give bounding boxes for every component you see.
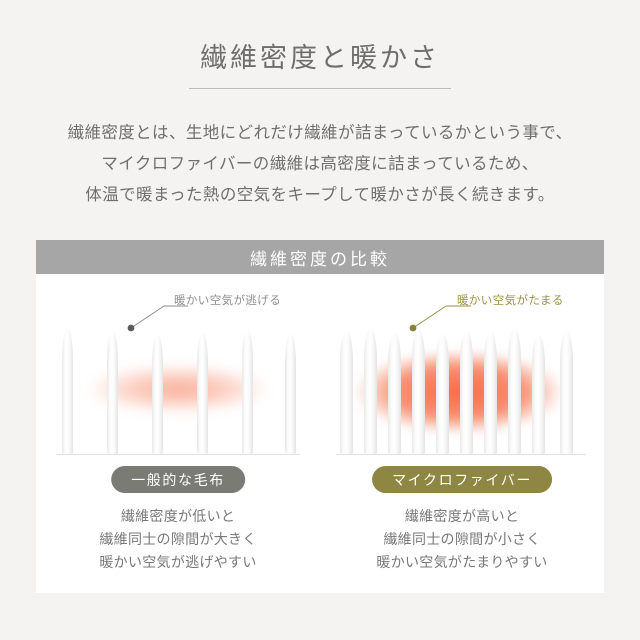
badge-ordinary-blanket: 一般的な毛布 — [111, 466, 245, 493]
badge-label: マイクロファイバー — [392, 470, 532, 490]
fiber-stage-microfiber — [320, 318, 604, 456]
fiber — [152, 334, 163, 454]
lead-line-1: 繊維密度とは、生地にどれだけ繊維が詰まっているかという事で、 — [0, 118, 640, 149]
fiber — [560, 330, 573, 454]
fiber-baseline — [336, 454, 586, 455]
caption-line-1: 繊維密度が高いと — [320, 505, 604, 528]
panel-header-title: 繊維密度の比較 — [250, 245, 390, 270]
caption-line-2: 繊維同士の隙間が小さく — [320, 528, 604, 551]
caption-line-3: 暖かい空気がたまりやすい — [320, 551, 604, 574]
warm-air-glow-ordinary — [60, 358, 296, 420]
lead-line-3: 体温で暖まった熱の空気をキープして暖かさが長く続きます。 — [0, 180, 640, 211]
fiber — [242, 329, 253, 454]
caption-ordinary: 繊維密度が低いと 繊維同士の隙間が大きく 暖かい空気が逃げやすい — [36, 505, 320, 574]
column-microfiber: 暖かい空気がたまる マイクロファイバー 繊維密度が高いと — [320, 274, 604, 593]
fiber — [197, 332, 208, 454]
fiber — [532, 334, 545, 454]
comparison-panel: 繊維密度の比較 暖かい空気が逃げる — [36, 240, 604, 593]
fiber — [285, 333, 296, 454]
comparison-columns: 暖かい空気が逃げる 一般的な毛布 繊維密度が低いと 繊維同士の隙間が大きく 暖か… — [36, 274, 604, 593]
fiber — [484, 331, 497, 454]
fiber — [460, 330, 473, 454]
fiber-stage-ordinary — [36, 318, 320, 456]
callout-text-microfiber: 暖かい空気がたまる — [457, 292, 564, 308]
panel-header: 繊維密度の比較 — [36, 240, 604, 274]
page-title-block: 繊維密度と暖かさ — [0, 42, 640, 89]
fiber — [412, 329, 425, 454]
fiber — [388, 332, 401, 454]
title-underline — [189, 88, 451, 89]
lead-paragraph: 繊維密度とは、生地にどれだけ繊維が詰まっているかという事で、 マイクロファイバー… — [0, 118, 640, 211]
fiber — [364, 328, 377, 454]
fiber — [436, 333, 449, 454]
caption-microfiber: 繊維密度が高いと 繊維同士の隙間が小さく 暖かい空気がたまりやすい — [320, 505, 604, 574]
fiber — [340, 330, 353, 454]
fiber — [508, 328, 521, 454]
column-ordinary-blanket: 暖かい空気が逃げる 一般的な毛布 繊維密度が低いと 繊維同士の隙間が大きく 暖か… — [36, 274, 320, 593]
fiber-baseline — [56, 454, 300, 455]
badge-label: 一般的な毛布 — [131, 470, 225, 490]
fiber — [107, 330, 118, 454]
badge-microfiber: マイクロファイバー — [372, 466, 552, 493]
page-title: 繊維密度と暖かさ — [0, 42, 640, 74]
fiber — [62, 328, 73, 454]
lead-line-2: マイクロファイバーの繊維は高密度に詰まっているため、 — [0, 149, 640, 180]
caption-line-3: 暖かい空気が逃げやすい — [36, 551, 320, 574]
callout-text-ordinary: 暖かい空気が逃げる — [174, 292, 281, 308]
caption-line-2: 繊維同士の隙間が大きく — [36, 528, 320, 551]
caption-line-1: 繊維密度が低いと — [36, 505, 320, 528]
